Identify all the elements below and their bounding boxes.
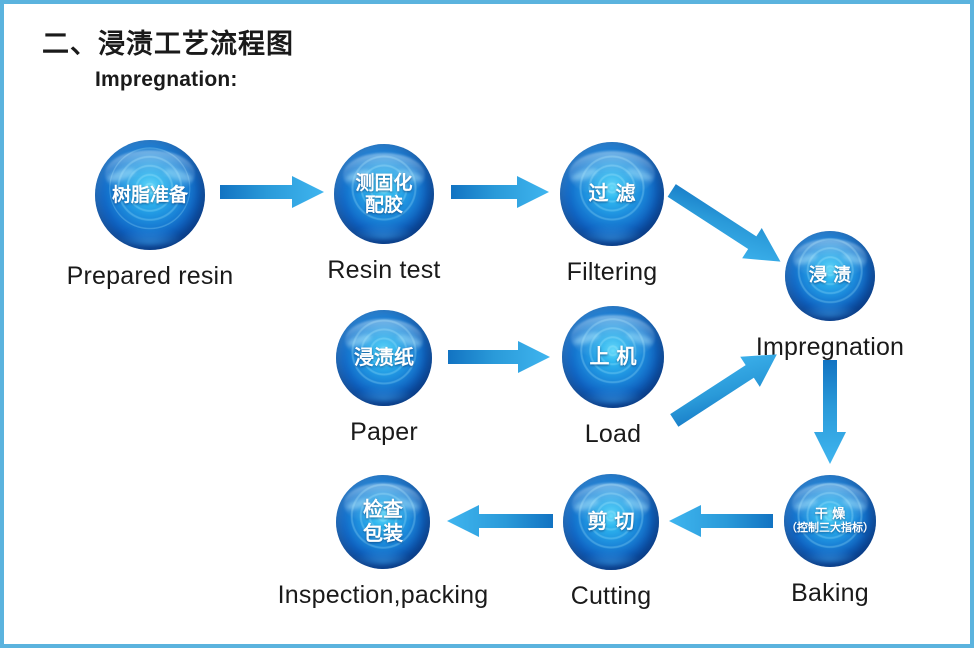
sphere-rim-light: [113, 227, 188, 245]
sphere-rim-light: [350, 223, 418, 239]
sphere-rim-light: [351, 549, 415, 564]
sphere-load[interactable]: 上 机: [562, 306, 664, 408]
sphere-filtering[interactable]: 过 滤: [560, 142, 664, 246]
node-prepared-resin[interactable]: 树脂准备 Prepared resin: [95, 140, 205, 250]
arrow-baking-to-cutting: [669, 504, 773, 538]
caption-cutting: Cutting: [571, 582, 652, 611]
node-filtering[interactable]: 过 滤 Filtering: [560, 142, 664, 246]
sphere-rim-light: [351, 386, 416, 401]
sphere-prepared-resin[interactable]: 树脂准备: [95, 140, 205, 250]
caption-load: Load: [585, 420, 641, 449]
caption-inspection-packing: Inspection,packing: [278, 581, 489, 610]
sphere-rim-light: [578, 550, 643, 565]
arrow-impregnation-to-baking: [813, 360, 847, 466]
flowchart-canvas: 二、浸渍工艺流程图 Impregnation:: [0, 0, 974, 648]
node-load[interactable]: 上 机 Load: [562, 306, 664, 408]
node-cutting[interactable]: 剪 切 Cutting: [563, 474, 659, 570]
arrow-cutting-to-inspection-packing: [447, 504, 553, 538]
caption-baking: Baking: [791, 579, 869, 608]
caption-prepared-resin: Prepared resin: [67, 262, 234, 291]
node-paper[interactable]: 浸渍纸 Paper: [336, 310, 432, 406]
sphere-rim-light: [578, 387, 647, 403]
page-title-english: Impregnation:: [95, 67, 682, 93]
caption-paper: Paper: [350, 418, 418, 447]
sphere-resin-test[interactable]: 测固化 配胶: [334, 144, 434, 244]
page-title-chinese: 二、浸渍工艺流程图: [42, 28, 682, 62]
arrow-paper-to-load: [448, 340, 552, 374]
sphere-impregnation[interactable]: 浸 渍: [785, 231, 875, 321]
arrow-prepared-resin-to-resin-test: [220, 175, 326, 209]
sphere-cutting[interactable]: 剪 切: [563, 474, 659, 570]
node-inspection-packing[interactable]: 检查 包装 Inspection,packing: [336, 475, 430, 569]
caption-resin-test: Resin test: [327, 256, 440, 285]
sphere-rim-light: [577, 224, 648, 241]
node-resin-test[interactable]: 测固化 配胶 Resin test: [334, 144, 434, 244]
sphere-baking[interactable]: 干 燥 （控制三大指标）: [784, 475, 876, 567]
arrow-resin-test-to-filtering: [451, 175, 551, 209]
sphere-rim-light: [799, 302, 860, 316]
page-title: 二、浸渍工艺流程图 Impregnation:: [42, 28, 682, 93]
arrow-load-to-impregnation: [674, 358, 780, 424]
arrow-filtering-to-impregnation: [672, 190, 784, 264]
node-impregnation[interactable]: 浸 渍 Impregnation: [785, 231, 875, 321]
caption-filtering: Filtering: [567, 258, 658, 287]
sphere-paper[interactable]: 浸渍纸: [336, 310, 432, 406]
sphere-rim-light: [799, 548, 862, 563]
node-baking[interactable]: 干 燥 （控制三大指标） Baking: [784, 475, 876, 567]
sphere-inspection-packing[interactable]: 检查 包装: [336, 475, 430, 569]
